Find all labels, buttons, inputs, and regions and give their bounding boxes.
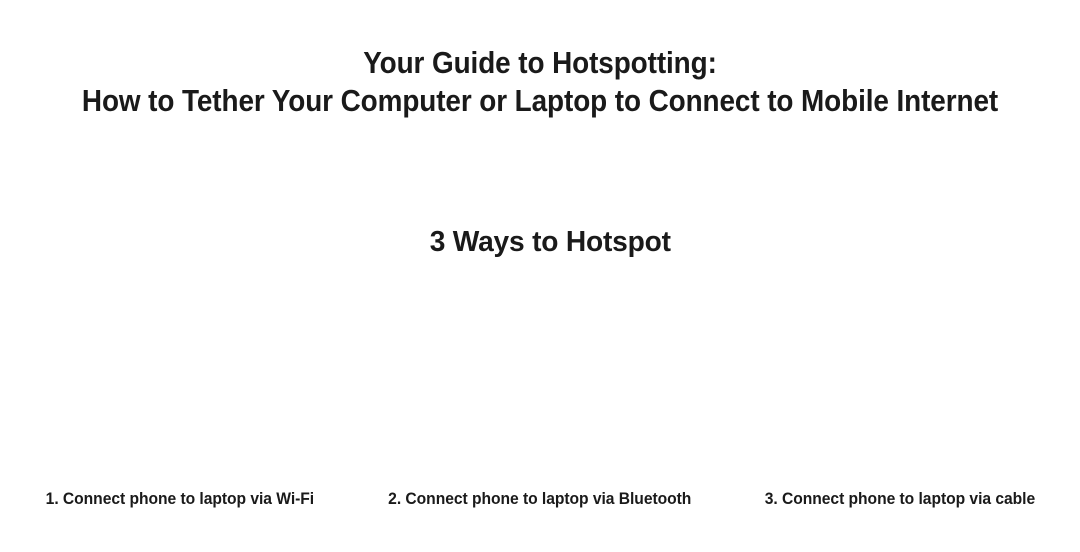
caption-cell-cable: 3. Connect phone to laptop via cable [720, 487, 1080, 511]
page-title: Your Guide to Hotspotting: How to Tether… [0, 44, 1080, 120]
caption-cell-bluetooth: 2. Connect phone to laptop via Bluetooth [360, 487, 720, 511]
method-caption-2: 2. Connect phone to laptop via Bluetooth [388, 487, 691, 511]
illustration-slot-cable [720, 280, 1080, 480]
method-caption-1: 1. Connect phone to laptop via Wi-Fi [46, 487, 314, 511]
illustration-row [0, 280, 1080, 480]
section-heading-text: 3 Ways to Hotspot [429, 224, 670, 260]
caption-cell-wifi: 1. Connect phone to laptop via Wi-Fi [0, 487, 360, 511]
page-title-line-1: Your Guide to Hotspotting: [54, 44, 1026, 82]
method-caption-3: 3. Connect phone to laptop via cable [765, 487, 1035, 511]
infographic-page: Your Guide to Hotspotting: How to Tether… [0, 0, 1080, 552]
caption-row: 1. Connect phone to laptop via Wi-Fi 2. … [0, 487, 1080, 511]
section-heading: 3 Ways to Hotspot [0, 224, 1080, 260]
illustration-slot-bluetooth [360, 280, 720, 480]
illustration-slot-wifi [0, 280, 360, 480]
page-title-line-2: How to Tether Your Computer or Laptop to… [54, 82, 1026, 120]
